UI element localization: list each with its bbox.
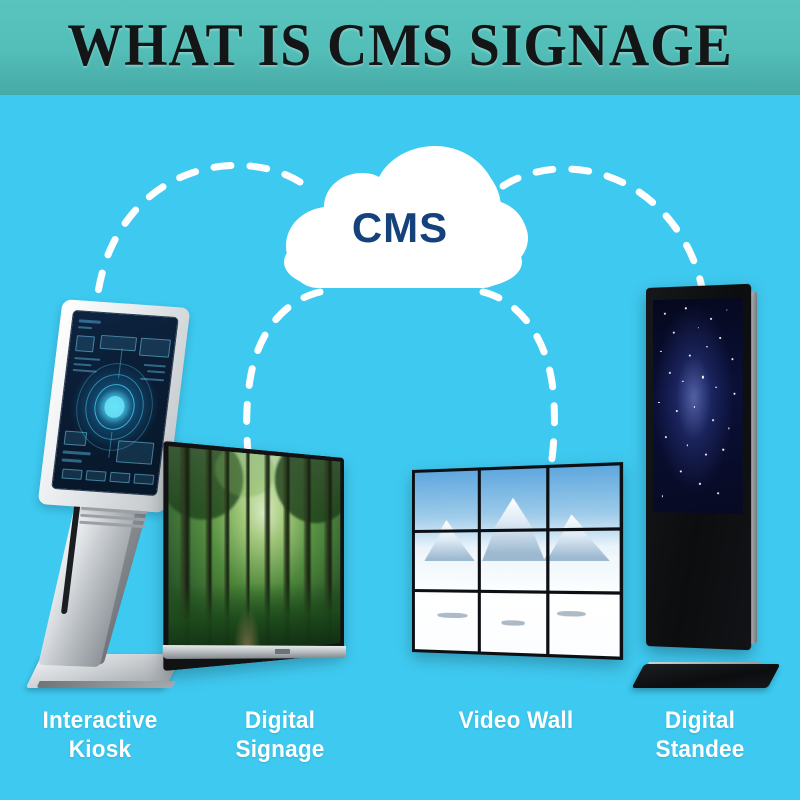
star	[712, 419, 714, 421]
kiosk-screen	[51, 310, 179, 496]
star	[669, 372, 671, 374]
star	[680, 470, 682, 472]
star	[664, 312, 666, 314]
hud-bar	[147, 370, 165, 373]
standee-base	[632, 664, 781, 688]
infographic-canvas: WHAT IS CMS SIGNAGE CMS	[0, 0, 800, 800]
star	[662, 495, 663, 497]
video-wall-panel	[415, 592, 478, 651]
page-title: WHAT IS CMS SIGNAGE	[28, 12, 772, 78]
kiosk-base-edge	[36, 681, 175, 688]
star	[732, 359, 734, 361]
star	[706, 346, 708, 348]
hud-panel	[139, 338, 171, 358]
video-wall-panel	[481, 593, 547, 654]
hud-bar	[144, 364, 166, 368]
hud-bar	[62, 458, 82, 462]
caption-video-wall: Video Wall	[431, 706, 600, 735]
hud-bar	[79, 319, 101, 324]
vent-line	[81, 507, 147, 515]
caption-digital-standee: Digital Standee	[615, 706, 784, 764]
star	[705, 453, 707, 455]
cloud-label: CMS	[272, 204, 528, 252]
vent-line	[80, 514, 146, 522]
star	[687, 444, 689, 446]
star	[676, 410, 678, 412]
star	[694, 406, 696, 408]
tv-body	[163, 441, 344, 671]
star	[717, 492, 719, 494]
star	[702, 376, 705, 379]
video-wall-panel	[550, 594, 620, 656]
hud-bar	[63, 450, 91, 455]
hud-panel	[116, 440, 155, 464]
device-digital-standee	[638, 288, 788, 688]
caption-interactive-kiosk: Interactive Kiosk	[15, 706, 184, 764]
hud-panel	[109, 472, 130, 483]
star	[665, 436, 667, 438]
tv-screen	[168, 446, 340, 658]
tv-logo	[275, 649, 290, 654]
vent-line	[79, 521, 145, 529]
tv-bottom-bezel	[163, 645, 346, 659]
hud-bar	[74, 357, 100, 361]
star	[715, 387, 717, 389]
hud-bar	[73, 363, 91, 366]
video-wall-panel	[481, 468, 547, 529]
star	[685, 308, 687, 310]
hud-panel	[64, 431, 88, 446]
star	[682, 380, 684, 382]
hud-panel	[133, 474, 154, 485]
standee-screen	[653, 298, 743, 514]
star	[660, 351, 661, 353]
star	[658, 402, 659, 404]
star	[710, 318, 712, 320]
star	[697, 327, 699, 329]
star	[699, 483, 701, 485]
star	[728, 428, 730, 430]
cms-cloud: CMS	[272, 146, 528, 296]
hud-panel	[61, 469, 82, 480]
video-wall-panel	[415, 532, 478, 590]
caption-digital-signage: Digital Signage	[195, 706, 364, 764]
hud-panel	[100, 335, 138, 351]
hud-panel	[75, 335, 95, 352]
hud-bar	[78, 326, 92, 329]
hud-panel	[85, 470, 106, 481]
star	[719, 337, 721, 339]
hud-bar	[73, 369, 97, 373]
star	[689, 355, 691, 357]
device-digital-signage	[178, 458, 364, 688]
star	[672, 331, 674, 334]
device-video-wall	[412, 470, 620, 678]
header-banner: WHAT IS CMS SIGNAGE	[0, 0, 800, 95]
video-wall-panel	[550, 465, 620, 527]
video-wall-panel	[481, 531, 547, 591]
video-wall-grid	[412, 462, 623, 660]
kiosk-vent	[79, 505, 148, 533]
star	[726, 309, 728, 311]
star	[723, 449, 725, 451]
star	[734, 393, 736, 395]
video-wall-panel	[550, 530, 620, 592]
video-wall-panel	[415, 471, 478, 530]
